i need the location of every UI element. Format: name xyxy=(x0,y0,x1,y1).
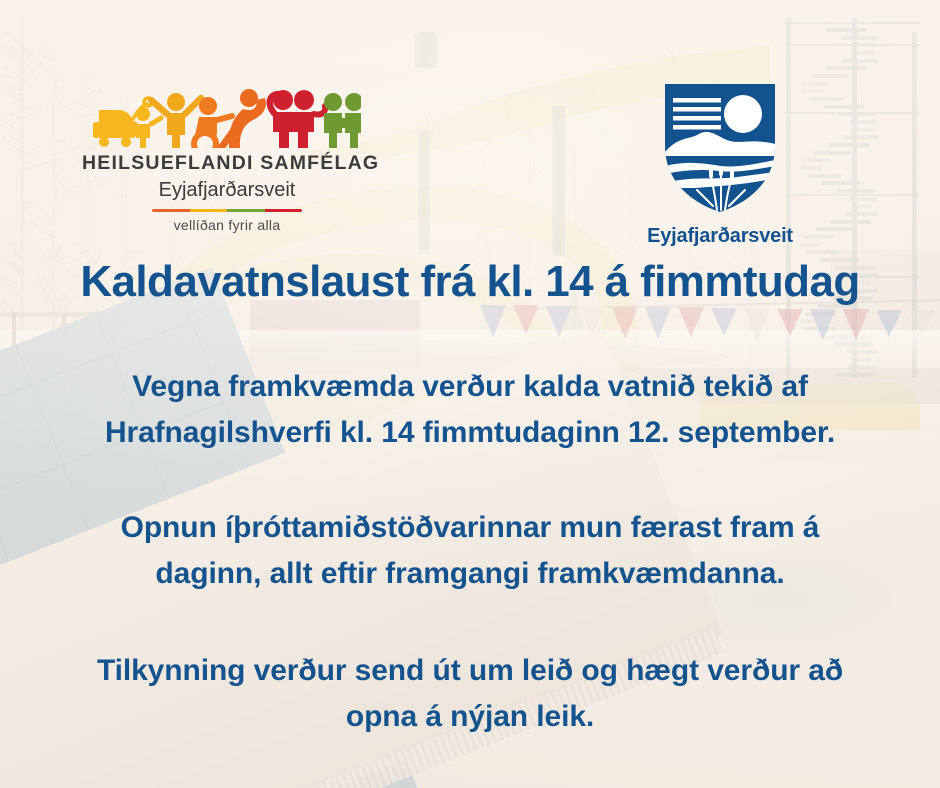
logo-bar-segment-3 xyxy=(265,209,303,212)
paragraph-2-line-1: Opnun íþróttamiðstöðvarinnar mun færast … xyxy=(0,505,940,551)
logo-bar-segment-1 xyxy=(190,209,228,212)
logo-title: HEILSUEFLANDI SAMFÉLAG xyxy=(82,154,372,174)
paragraph-2: Opnun íþróttamiðstöðvarinnar mun færast … xyxy=(0,505,940,596)
people-figures-graphic xyxy=(93,82,361,148)
paragraph-3-line-2: opna á nýjan leik. xyxy=(0,694,940,740)
shield-icon xyxy=(655,78,785,218)
people-figures-svg xyxy=(93,82,361,148)
couple-red-figure xyxy=(270,90,325,148)
paragraph-3: Tilkynning verður send út um leið og hæg… xyxy=(0,648,940,739)
logo-heilsueflandi-samfelag: HEILSUEFLANDI SAMFÉLAG Eyjafjarðarsveit … xyxy=(82,82,372,233)
coat-of-arms-name: Eyjafjarðarsveit xyxy=(640,225,800,248)
poster: HEILSUEFLANDI SAMFÉLAG Eyjafjarðarsveit … xyxy=(0,0,940,788)
paragraph-1: Vegna framkvæmda verður kalda vatnið tek… xyxy=(0,364,940,455)
logo-color-bar xyxy=(152,209,302,212)
logo-tagline: vellíðan fyrir alla xyxy=(82,217,372,233)
logo-coat-of-arms: Eyjafjarðarsveit xyxy=(640,78,800,248)
paragraph-1-line-1: Vegna framkvæmda verður kalda vatnið tek… xyxy=(0,364,940,410)
page-title: Kaldavatnslaust frá kl. 14 á fimmtudag xyxy=(0,258,940,306)
logo-bar-segment-2 xyxy=(227,209,265,212)
sun xyxy=(724,95,762,133)
poster-content: HEILSUEFLANDI SAMFÉLAG Eyjafjarðarsveit … xyxy=(0,0,940,788)
paragraph-1-line-2: Hrafnagilshverfi kl. 14 fimmtudaginn 12.… xyxy=(0,410,940,456)
logo-subtitle: Eyjafjarðarsveit xyxy=(82,179,372,202)
couple-green-figure xyxy=(324,93,361,148)
paragraph-3-line-1: Tilkynning verður send út um leið og hæg… xyxy=(0,648,940,694)
logo-bar-segment-0 xyxy=(152,209,190,212)
paragraph-2-line-2: daginn, allt eftir framgangi framkvæmdan… xyxy=(0,551,940,597)
